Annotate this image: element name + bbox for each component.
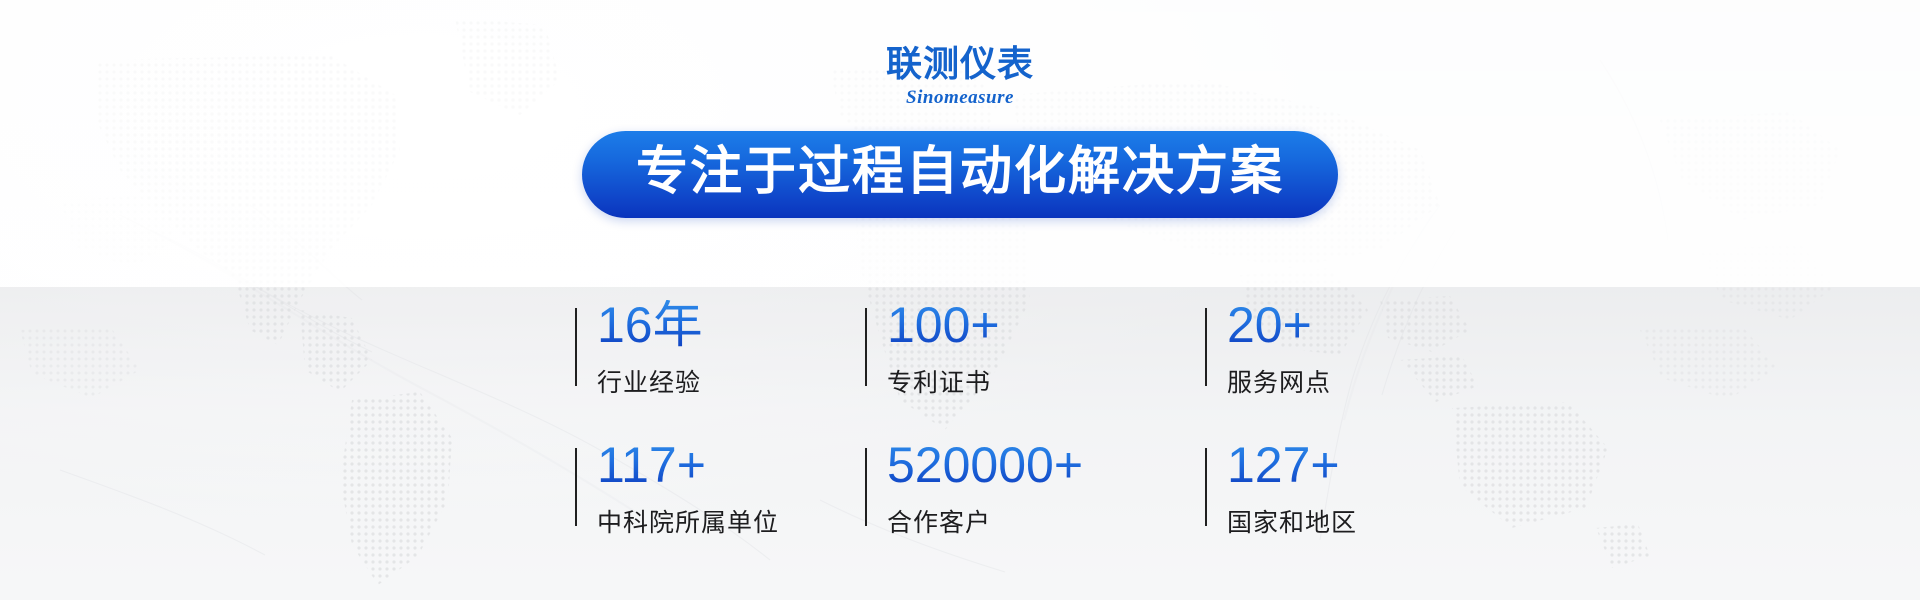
- stat-label: 合作客户: [887, 503, 1205, 539]
- stat-item-experience: 16年 行业经验: [575, 300, 865, 440]
- stat-value: 100+: [887, 300, 1205, 350]
- stat-value: 117+: [597, 440, 865, 490]
- stat-label: 中科院所属单位: [597, 503, 865, 539]
- brand-logo: 联测仪表 Sinomeasure: [0, 46, 1920, 107]
- stat-value: 20+: [1227, 300, 1385, 350]
- stat-value: 520000+: [887, 440, 1205, 490]
- stat-item-patents: 100+ 专利证书: [865, 300, 1205, 440]
- brand-name-en: Sinomeasure: [0, 88, 1920, 107]
- brand-name-cn: 联测仪表: [0, 46, 1920, 82]
- stat-label: 服务网点: [1227, 363, 1385, 399]
- stats-grid: 16年 行业经验 100+ 专利证书 20+ 服务网点 117+ 中科院所属单位…: [575, 300, 1385, 580]
- promo-banner: 联测仪表 Sinomeasure 专注于过程自动化解决方案 16年 行业经验 1…: [0, 0, 1920, 600]
- stat-label: 国家和地区: [1227, 503, 1385, 539]
- headline-pill: 专注于过程自动化解决方案: [582, 131, 1338, 218]
- stat-value: 16年: [597, 300, 865, 350]
- stat-item-cas-units: 117+ 中科院所属单位: [575, 440, 865, 580]
- stat-value: 127+: [1227, 440, 1385, 490]
- stat-label: 行业经验: [597, 363, 865, 399]
- stat-item-customers: 520000+ 合作客户: [865, 440, 1205, 580]
- headline-text: 专注于过程自动化解决方案: [636, 145, 1284, 200]
- stat-item-service-points: 20+ 服务网点: [1205, 300, 1385, 440]
- banner-content: 联测仪表 Sinomeasure 专注于过程自动化解决方案 16年 行业经验 1…: [0, 0, 1920, 600]
- headline-container: 专注于过程自动化解决方案: [0, 131, 1920, 218]
- stat-item-countries: 127+ 国家和地区: [1205, 440, 1385, 580]
- stat-label: 专利证书: [887, 363, 1205, 399]
